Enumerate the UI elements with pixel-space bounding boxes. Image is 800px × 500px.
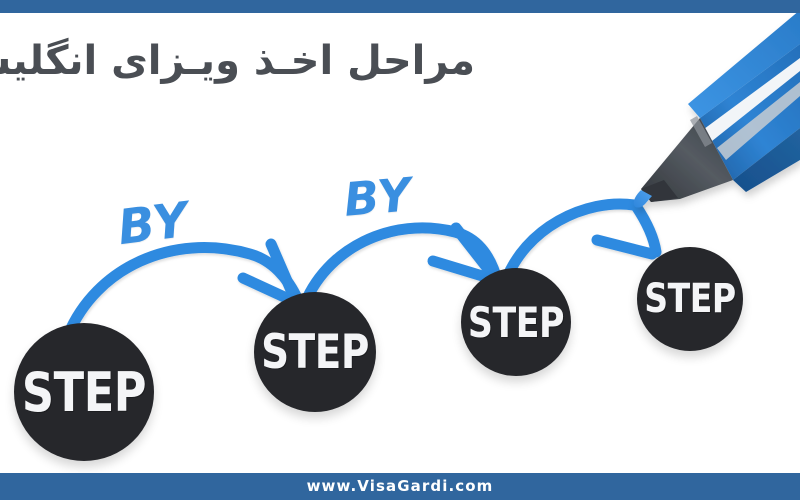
- page-title: مراحل اخـذ ویـزای انگلیس: [20, 36, 475, 86]
- step-bubble-label: STEP: [20, 323, 149, 461]
- connector-word-2: BY: [342, 167, 414, 227]
- step-bubble-label: STEP: [259, 292, 371, 412]
- top-brand-bar: [0, 0, 800, 13]
- step-bubble-label: STEP: [465, 268, 566, 376]
- step-bubble-4[interactable]: STEP: [637, 247, 743, 351]
- footer-website-url[interactable]: www.VisaGardi.com: [0, 473, 800, 500]
- visa-step-banner: مراحل اخـذ ویـزای انگلیس STEP STEP STEP …: [0, 0, 800, 500]
- blue-marker-pen-icon: [634, 10, 800, 208]
- step-bubble-3[interactable]: STEP: [461, 268, 571, 376]
- connector-word-1: BY: [115, 192, 192, 256]
- step-bubble-1[interactable]: STEP: [14, 323, 154, 461]
- step-bubble-2[interactable]: STEP: [254, 292, 376, 412]
- step-bubble-label: STEP: [641, 247, 739, 351]
